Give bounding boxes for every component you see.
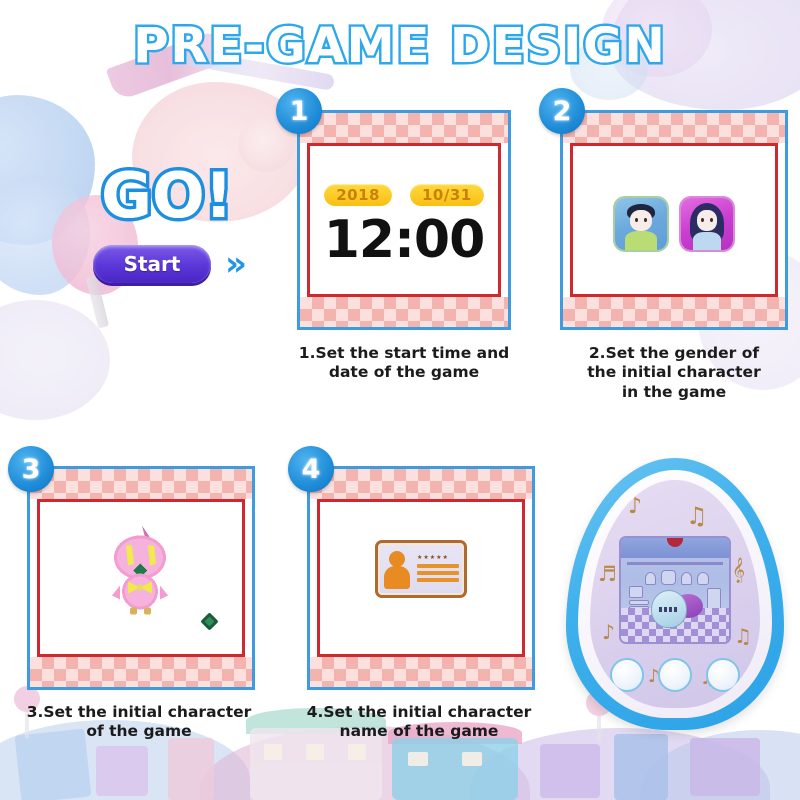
bg-building [168, 738, 214, 800]
panel-pattern-top [563, 113, 785, 143]
panel-pattern-bottom [30, 657, 252, 687]
lcd-item [681, 572, 692, 585]
id-card-icon[interactable]: ★★★★★ [375, 540, 467, 598]
music-note-icon: ♫ [686, 502, 708, 530]
caption-line: 3.Set the initial character [12, 703, 266, 722]
bg-window [462, 752, 482, 766]
music-note-icon: ♪ [628, 494, 642, 519]
caption-line: 1.Set the start time and [287, 344, 521, 363]
panel-1[interactable]: 2018 10/31 12:00 [297, 110, 511, 330]
panel-pattern-top [310, 469, 532, 499]
lcd-item [629, 600, 649, 605]
panel-2-screen[interactable] [570, 143, 778, 297]
bg-building [540, 744, 600, 798]
panel-4-screen[interactable]: ★★★★★ [317, 499, 525, 657]
bg-window [408, 752, 428, 766]
bg-tree-trunk [86, 275, 109, 328]
bg-building [690, 738, 760, 796]
panel-badge-3: 3 [8, 446, 54, 492]
panel-pattern-bottom [563, 297, 785, 327]
boy-avatar[interactable] [615, 198, 667, 250]
bg-window [348, 744, 366, 760]
panel-pattern-top [30, 469, 252, 499]
year-pill[interactable]: 2018 [324, 184, 392, 206]
bg-building [96, 746, 148, 796]
lcd-lamp [667, 536, 683, 547]
id-card-line [417, 578, 459, 582]
intro-block: GO! GO! Start » [62, 165, 272, 283]
lcd-shelf [627, 562, 723, 565]
device-button-row [590, 658, 760, 692]
id-person-silhouette [383, 549, 411, 589]
girl-avatar[interactable] [681, 198, 733, 250]
lcd-pet-character [651, 590, 687, 628]
caption-line: in the game [556, 383, 792, 402]
panel-2-caption: 2.Set the gender of the initial characte… [556, 344, 792, 402]
panel-badge-1: 1 [276, 88, 322, 134]
panel-1-screen[interactable]: 2018 10/31 12:00 [307, 143, 501, 297]
panel-pattern-bottom [310, 657, 532, 687]
music-note-icon: ♫ [734, 624, 752, 648]
go-label: GO! [62, 165, 272, 227]
caption-line: the initial character [556, 363, 792, 382]
caption-line: name of the game [292, 722, 546, 741]
device-lcd-screen [619, 536, 731, 644]
screenshot-root: PRE-GAME DESIGN PRE-GAME DESIGN GO! GO! … [0, 0, 800, 800]
panel-badge-2: 2 [539, 88, 585, 134]
page-title-outline: PRE-GAME DESIGN [0, 18, 800, 74]
panel-4-caption: 4.Set the initial character name of the … [292, 703, 546, 742]
caption-line: of the game [12, 722, 266, 741]
green-diamond-cursor[interactable] [200, 612, 218, 630]
panel-pattern-top [300, 113, 508, 143]
caption-line: date of the game [287, 363, 521, 382]
id-card-line [417, 571, 459, 575]
panel-1-caption: 1.Set the start time and date of the gam… [287, 344, 521, 383]
id-card-stars: ★★★★★ [417, 555, 459, 561]
bg-building [614, 734, 668, 800]
music-note-icon: 𝄞 [732, 558, 745, 583]
id-card-line [417, 564, 459, 568]
bg-window [264, 744, 282, 760]
next-chevron-icon: » [225, 247, 241, 281]
panel-pattern-bottom [300, 297, 508, 327]
music-note-icon: ♪ [602, 620, 615, 644]
panel-3-caption: 3.Set the initial character of the game [12, 703, 266, 742]
caption-line: 4.Set the initial character [292, 703, 546, 722]
music-note-icon: ♬ [598, 562, 617, 586]
bg-window [306, 744, 324, 760]
device-button-c[interactable] [706, 658, 740, 692]
lcd-ceiling [621, 538, 729, 558]
lcd-item [661, 570, 676, 585]
panel-4[interactable]: ★★★★★ [307, 466, 535, 690]
lcd-item [629, 586, 643, 598]
device-button-a[interactable] [610, 658, 644, 692]
start-button[interactable]: Start [93, 245, 211, 283]
caption-line: 2.Set the gender of [556, 344, 792, 363]
panel-2[interactable] [560, 110, 788, 330]
clock-display: 12:00 [310, 210, 498, 270]
date-pill-row: 2018 10/31 [310, 184, 498, 206]
bg-hill [640, 730, 800, 800]
pink-pixel-character[interactable] [104, 523, 178, 620]
panel-3[interactable] [27, 466, 255, 690]
panel-badge-4: 4 [288, 446, 334, 492]
gender-avatar-row [573, 198, 775, 250]
id-card-text-lines: ★★★★★ [417, 555, 459, 582]
panel-3-screen[interactable] [37, 499, 245, 657]
bg-building [392, 738, 518, 800]
date-pill[interactable]: 10/31 [410, 184, 484, 206]
lcd-item [645, 572, 656, 585]
device-button-b[interactable] [658, 658, 692, 692]
bg-cloud-mid-left [0, 300, 110, 420]
tamagotchi-device[interactable]: ♪ ♫ ♬ 𝄞 ♪ ♫ ♪ ♫ [566, 458, 784, 730]
lcd-item [697, 572, 709, 585]
